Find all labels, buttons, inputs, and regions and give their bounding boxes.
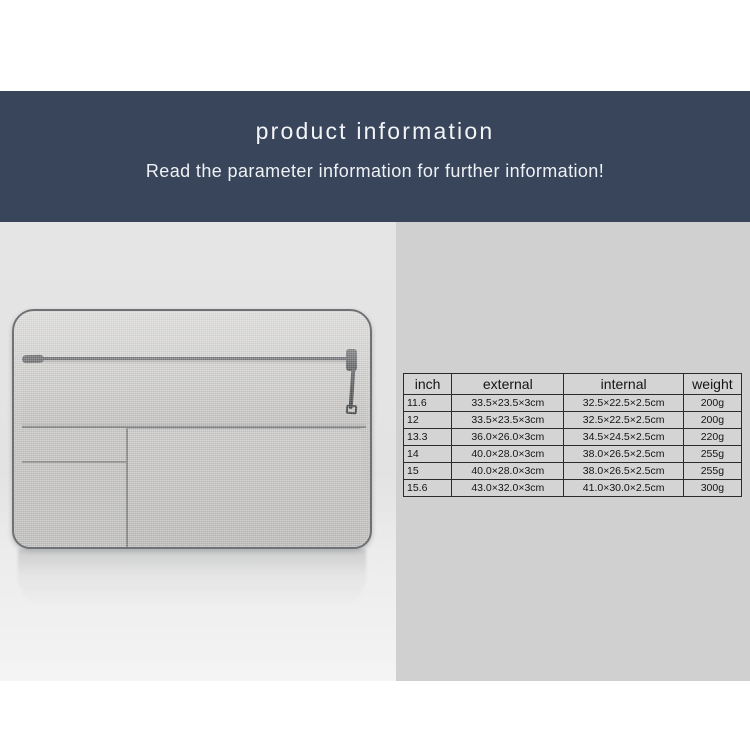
cell-weight: 255g xyxy=(683,463,741,480)
column-header-inch: inch xyxy=(404,374,452,395)
table-row: 13.3 36.0×26.0×3cm 34.5×24.5×2.5cm 220g xyxy=(404,429,742,446)
cell-internal: 32.5×22.5×2.5cm xyxy=(564,412,683,429)
cell-weight: 220g xyxy=(683,429,741,446)
sleeve-front-pocket xyxy=(126,428,361,549)
cell-internal: 38.0×26.5×2.5cm xyxy=(564,446,683,463)
specification-panel: inch external internal weight 11.6 33.5×… xyxy=(396,222,750,681)
cell-internal: 38.0×26.5×2.5cm xyxy=(564,463,683,480)
cell-external: 40.0×28.0×3cm xyxy=(452,463,564,480)
table-row: 15 40.0×28.0×3cm 38.0×26.5×2.5cm 255g xyxy=(404,463,742,480)
spec-table-wrapper: inch external internal weight 11.6 33.5×… xyxy=(403,373,742,497)
cell-external: 43.0×32.0×3cm xyxy=(452,480,564,497)
sleeve-side-slot xyxy=(22,355,44,364)
photo-reflection xyxy=(18,549,366,607)
table-row: 14 40.0×28.0×3cm 38.0×26.5×2.5cm 255g xyxy=(404,446,742,463)
specification-table: inch external internal weight 11.6 33.5×… xyxy=(403,373,742,497)
cell-external: 36.0×26.0×3cm xyxy=(452,429,564,446)
zipper-pull-tip-icon xyxy=(346,405,358,415)
cell-weight: 200g xyxy=(683,412,741,429)
cell-external: 33.5×23.5×3cm xyxy=(452,395,564,412)
cell-inch: 14 xyxy=(404,446,452,463)
sleeve-pocket-seam-secondary xyxy=(22,461,127,463)
product-information-page: product information Read the parameter i… xyxy=(0,0,750,750)
column-header-internal: internal xyxy=(564,374,683,395)
spec-table-body: 11.6 33.5×23.5×3cm 32.5×22.5×2.5cm 200g … xyxy=(404,395,742,497)
cell-external: 40.0×28.0×3cm xyxy=(452,446,564,463)
laptop-sleeve-illustration xyxy=(12,309,372,549)
cell-inch: 13.3 xyxy=(404,429,452,446)
table-row: 12 33.5×23.5×3cm 32.5×22.5×2.5cm 200g xyxy=(404,412,742,429)
table-row: 15.6 43.0×32.0×3cm 41.0×30.0×2.5cm 300g xyxy=(404,480,742,497)
zipper-slider-icon xyxy=(346,349,357,371)
cell-weight: 200g xyxy=(683,395,741,412)
table-header-row: inch external internal weight xyxy=(404,374,742,395)
cell-inch: 11.6 xyxy=(404,395,452,412)
sleeve-upper-pocket xyxy=(22,363,366,425)
cell-inch: 15.6 xyxy=(404,480,452,497)
sleeve-zipper-shadow xyxy=(28,360,352,364)
cell-internal: 32.5×22.5×2.5cm xyxy=(564,395,683,412)
header-banner: product information Read the parameter i… xyxy=(0,91,750,222)
cell-weight: 300g xyxy=(683,480,741,497)
cell-inch: 15 xyxy=(404,463,452,480)
cell-inch: 12 xyxy=(404,412,452,429)
cell-weight: 255g xyxy=(683,446,741,463)
product-photo xyxy=(0,222,396,681)
column-header-external: external xyxy=(452,374,564,395)
table-row: 11.6 33.5×23.5×3cm 32.5×22.5×2.5cm 200g xyxy=(404,395,742,412)
page-title: product information xyxy=(0,117,750,145)
cell-external: 33.5×23.5×3cm xyxy=(452,412,564,429)
spec-table-head: inch external internal weight xyxy=(404,374,742,395)
page-subtitle: Read the parameter information for furth… xyxy=(0,159,750,183)
product-photo-panel xyxy=(0,222,396,681)
cell-internal: 41.0×30.0×2.5cm xyxy=(564,480,683,497)
column-header-weight: weight xyxy=(683,374,741,395)
cell-internal: 34.5×24.5×2.5cm xyxy=(564,429,683,446)
